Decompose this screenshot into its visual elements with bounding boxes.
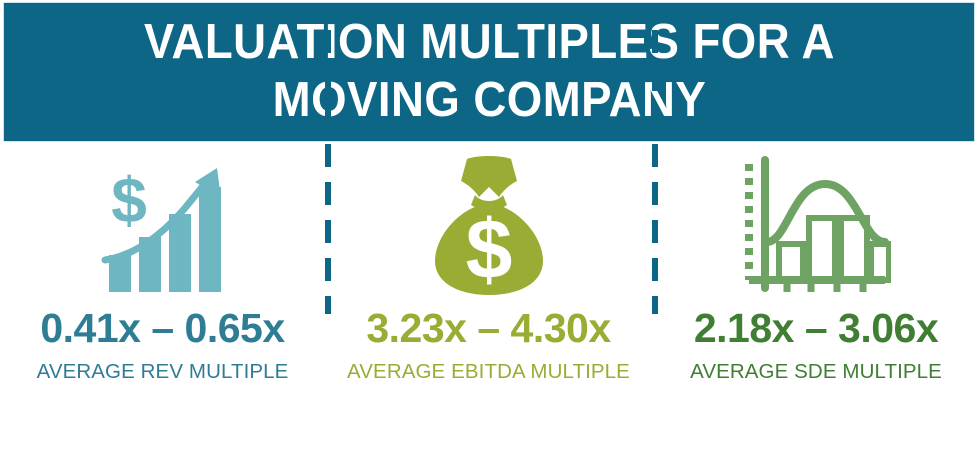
header-band: VALUATION MULTIPLES FOR A MOVING COMPANY	[3, 2, 975, 142]
histogram-bell-curve-icon	[741, 142, 891, 302]
svg-text:$: $	[111, 164, 147, 236]
metric-value-sde: 2.18x – 3.06x	[694, 308, 938, 349]
svg-text:$: $	[465, 202, 512, 296]
metric-label-ebitda: AVERAGE EBITDA MULTIPLE	[347, 362, 630, 383]
metric-label-sde: AVERAGE SDE MULTIPLE	[690, 362, 942, 383]
page-title: VALUATION MULTIPLES FOR A MOVING COMPANY	[144, 14, 835, 130]
metric-column-revenue: $ 0.41x – 0.65x AVERAGE REV MULTIPLE	[0, 142, 325, 456]
metric-value-ebitda: 3.23x – 4.30x	[366, 308, 610, 349]
growth-bar-chart-dollar-icon: $	[99, 142, 227, 302]
metric-column-sde: 2.18x – 3.06x AVERAGE SDE MULTIPLE	[652, 142, 980, 456]
money-bag-dollar-icon: $	[429, 142, 549, 302]
metric-label-revenue: AVERAGE REV MULTIPLE	[37, 362, 289, 383]
valuation-multiples-infographic: VALUATION MULTIPLES FOR A MOVING COMPANY…	[0, 0, 980, 456]
metric-column-ebitda: $ 3.23x – 4.30x AVERAGE EBITDA MULTIPLE	[325, 142, 652, 456]
metric-value-revenue: 0.41x – 0.65x	[40, 308, 284, 349]
metrics-row: $ 0.41x – 0.65x AVERAGE REV MULTIPLE	[0, 142, 980, 456]
